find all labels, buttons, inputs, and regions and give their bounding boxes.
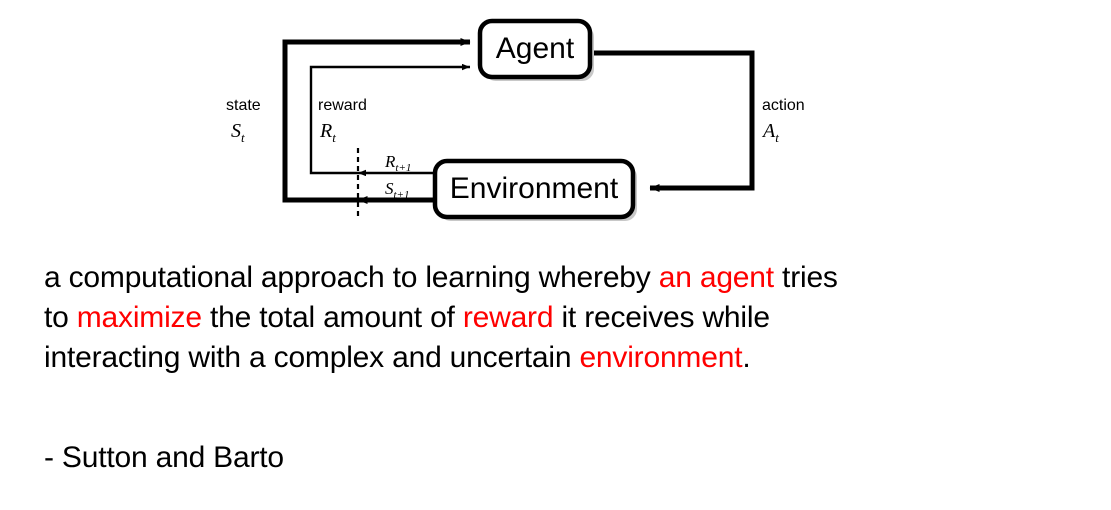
reward-symbol-glyph: R <box>319 120 332 142</box>
reward-label-symbol: Rt <box>319 120 336 145</box>
quote-text-run: interacting with a complex and uncertain <box>44 341 579 374</box>
next-state-label: St+1 <box>385 179 409 201</box>
state-symbol-glyph: S <box>231 120 241 142</box>
quote-text-run: to <box>44 301 77 334</box>
rl-diagram-container: Agent Environment state St reward Rt act… <box>0 0 1111 245</box>
reward-symbol-subscript: t <box>332 130 336 145</box>
quote-highlight: maximize <box>77 301 202 334</box>
quote-highlight: environment <box>579 341 742 374</box>
quote-text-run: tries <box>774 261 838 294</box>
quote-text-run: the total amount of <box>202 301 463 334</box>
state-symbol-subscript: t <box>241 130 245 145</box>
quote-text-run: a computational approach to learning whe… <box>44 261 659 294</box>
state-label-text: state <box>226 97 261 114</box>
state-label-symbol: St <box>231 120 245 145</box>
next-reward-label: Rt+1 <box>384 152 411 174</box>
action-label-symbol: At <box>761 120 779 145</box>
quote-highlight: reward <box>463 301 554 334</box>
quote-text-run: . <box>742 341 750 374</box>
action-label-text: action <box>762 97 805 114</box>
quote-highlight: an agent <box>659 261 774 294</box>
quote-attribution: - Sutton and Barto <box>44 438 284 478</box>
environment-box-label: Environment <box>450 172 619 205</box>
action-symbol-subscript: t <box>775 130 779 145</box>
quote-text-run: it receives while <box>553 301 769 334</box>
next-reward-symbol-glyph: R <box>384 152 396 171</box>
quote-text-block: a computational approach to learning whe… <box>44 258 1084 378</box>
reward-label-text: reward <box>318 97 367 114</box>
quote-line: interacting with a complex and uncertain… <box>44 338 1084 378</box>
action-symbol-glyph: A <box>761 120 776 142</box>
next-reward-symbol-subscript: t+1 <box>395 162 411 174</box>
quote-line: a computational approach to learning whe… <box>44 258 1084 298</box>
agent-box-label: Agent <box>496 32 575 65</box>
quote-line: to maximize the total amount of reward i… <box>44 298 1084 338</box>
next-state-symbol-subscript: t+1 <box>394 189 410 201</box>
slide-canvas: Agent Environment state St reward Rt act… <box>0 0 1111 510</box>
agent-environment-loop-diagram: Agent Environment state St reward Rt act… <box>0 0 1111 245</box>
